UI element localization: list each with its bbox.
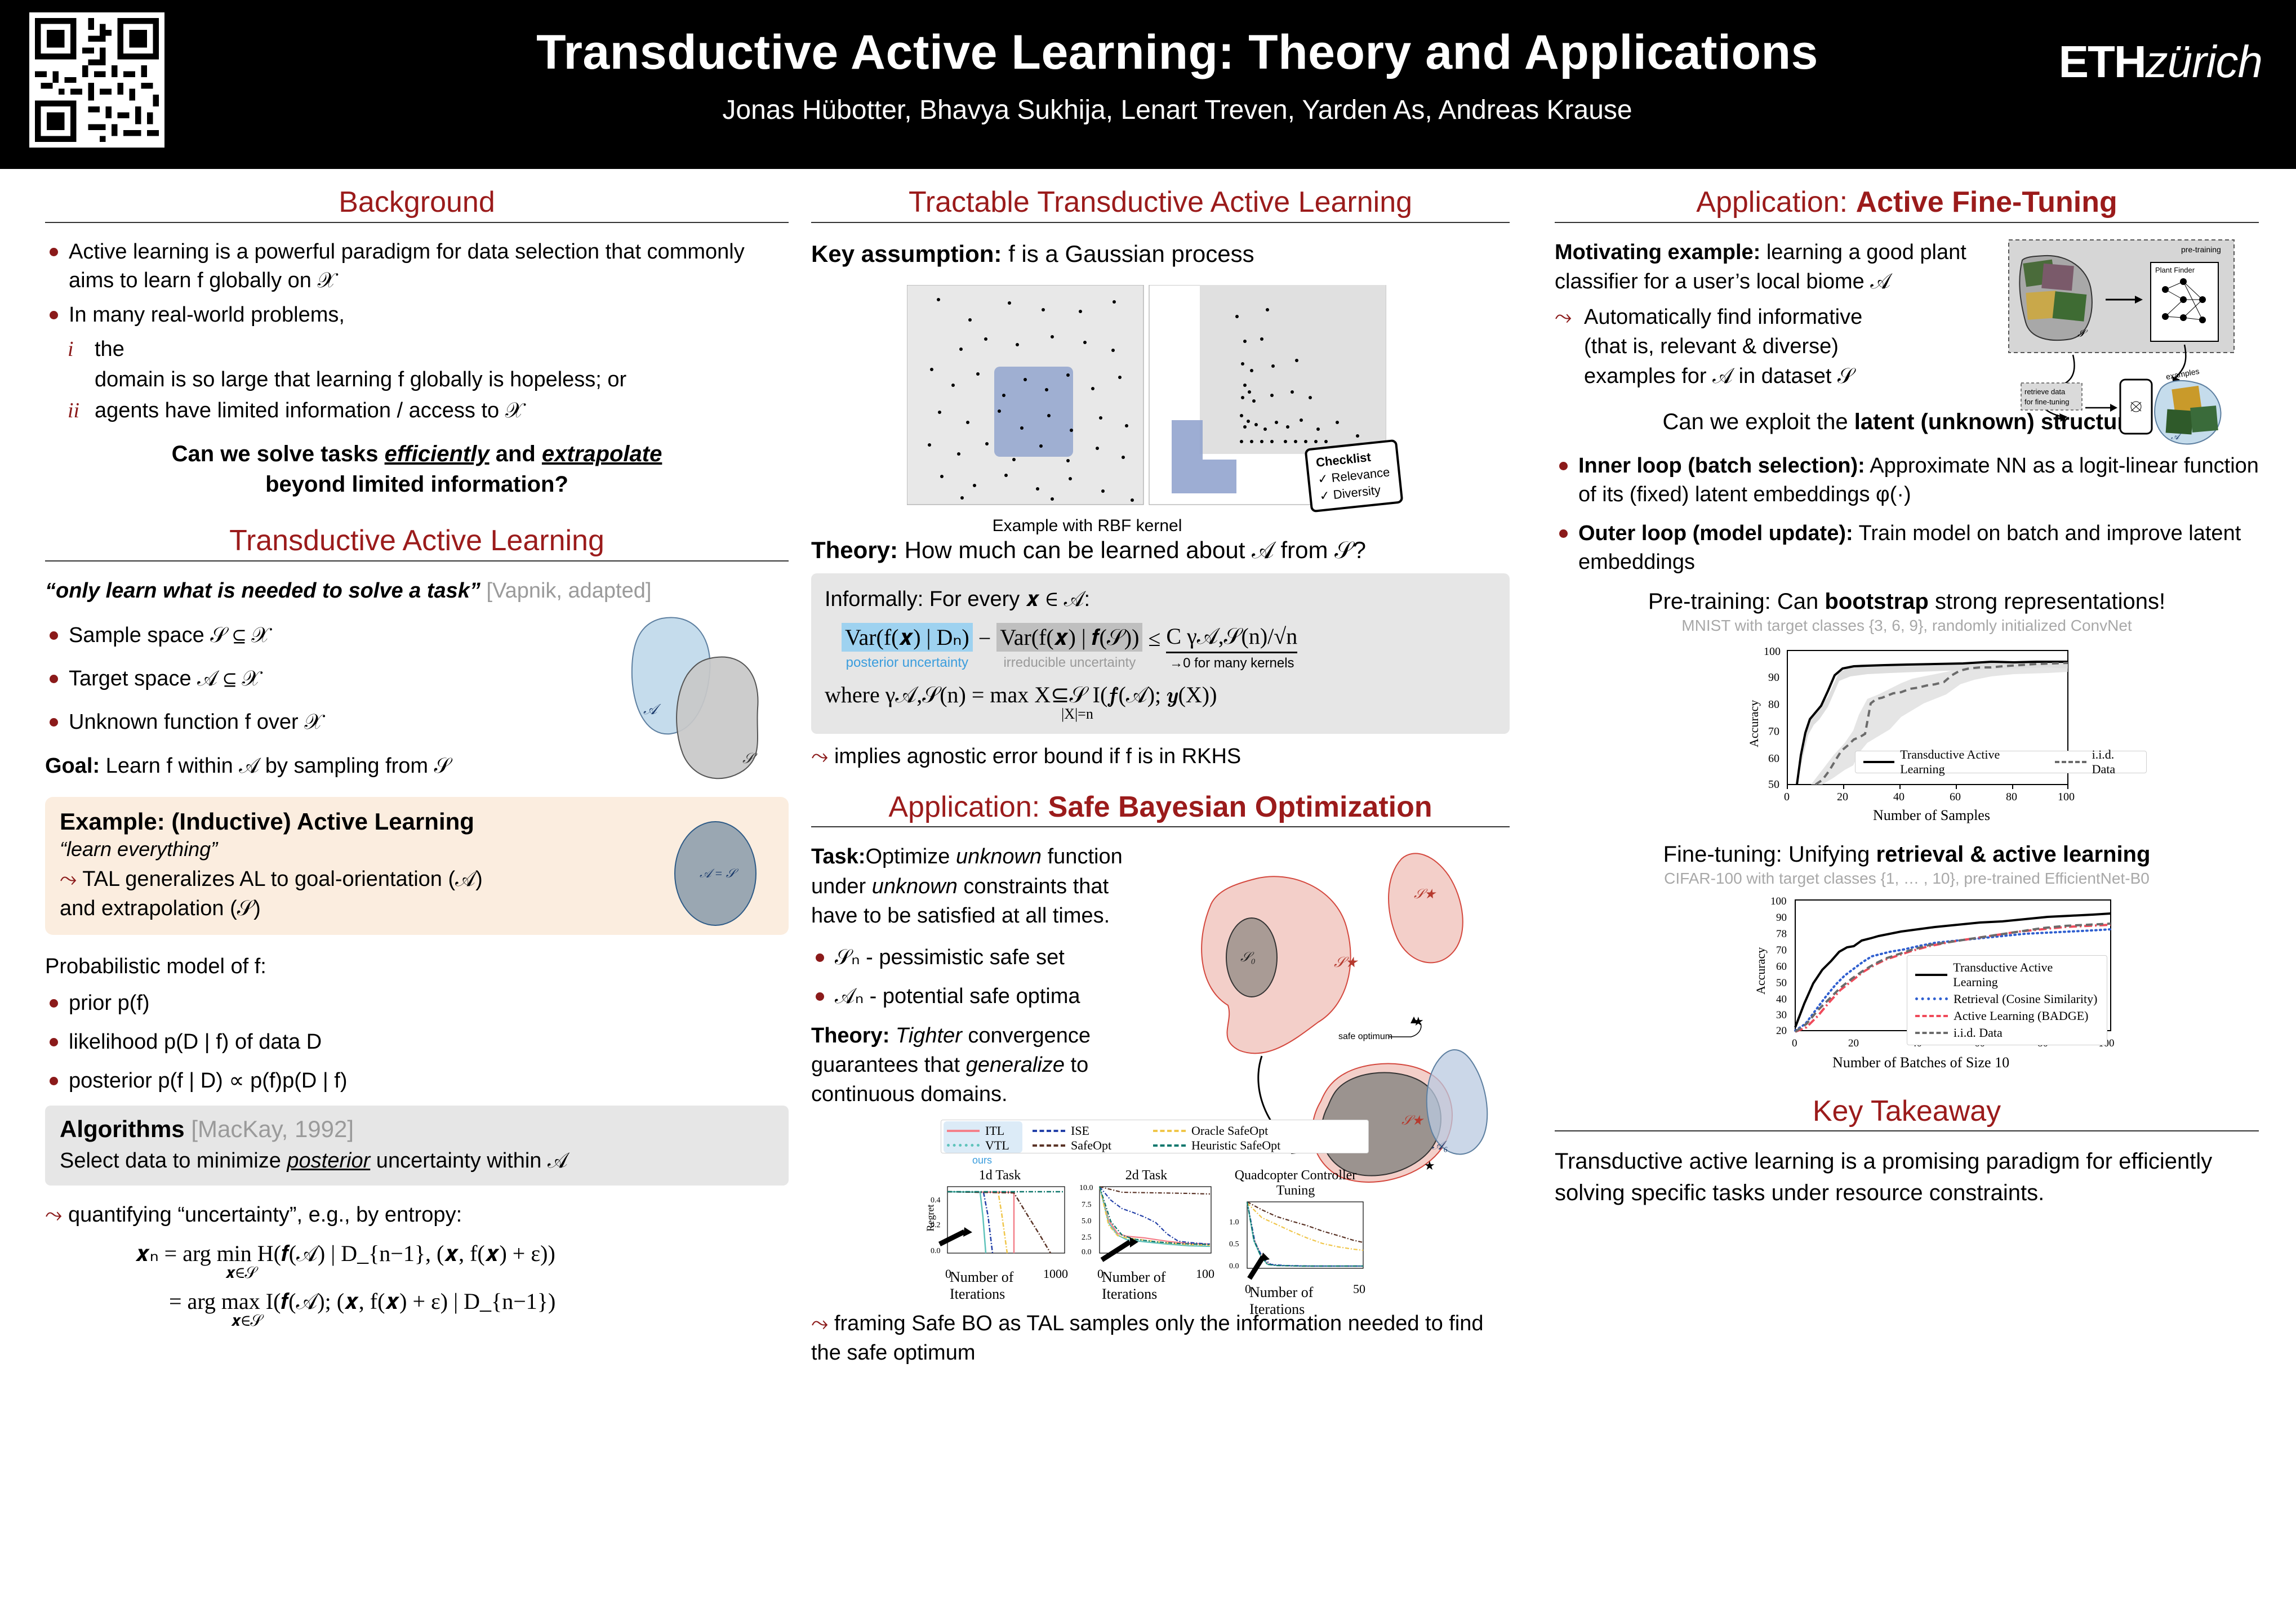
theory-text: How much can be learned about 𝒜 from 𝒮? xyxy=(898,537,1366,563)
theory-box: Informally: For every 𝒙 ∈ 𝒜: Var(f(𝒙) | … xyxy=(811,573,1510,734)
takeaway-text: Transductive active learning is a promis… xyxy=(1555,1146,2259,1208)
roman-numeral: i xyxy=(68,335,74,364)
svg-text:90: 90 xyxy=(1776,912,1787,924)
roman-text: the xyxy=(95,337,124,361)
checklist-card: Checklist ✓ Relevance ✓ Diversity xyxy=(1305,439,1404,513)
safebo-conclusion: ⤳ framing Safe BO as TAL samples only th… xyxy=(811,1309,1510,1368)
equation-argmax: = arg max I(𝒇(𝒜); (𝒙, f(𝒙) + ε) | D_{n−1… xyxy=(169,1288,789,1314)
question-part-a: Can we solve tasks xyxy=(172,442,385,466)
poster-title: Transductive Active Learning: Theory and… xyxy=(507,27,1848,78)
chart-safebo-2d: 2d Task 10.0 7.5 5.0 2.5 0.0 xyxy=(1076,1168,1217,1284)
chart-plot-area: 1009080 706050 02040 6080100 Accuracy xyxy=(1653,640,2160,809)
legend-label: i.i.d. Data xyxy=(1954,1026,2003,1040)
checklist-label: Diversity xyxy=(1333,483,1381,502)
legend-item-tal: Transductive Active Learning xyxy=(1863,747,2040,777)
alg-text-a: Select data to minimize xyxy=(60,1149,287,1173)
svg-text:60: 60 xyxy=(1950,791,1961,803)
safebo-task: Task:Optimize unknown function under unk… xyxy=(811,842,1160,930)
header-title-block: Transductive Active Learning: Theory and… xyxy=(507,27,1848,126)
legend-swatch xyxy=(1915,1015,1948,1017)
svg-text:80: 80 xyxy=(2006,791,2017,803)
ours-annotation: ours xyxy=(972,1155,992,1166)
tal-goal: Goal: Learn f within 𝒜 by sampling from … xyxy=(45,751,541,781)
background-bullet-list: Active learning is a powerful paradigm f… xyxy=(45,238,789,329)
safebo-charts-figure: ITL VTL ISE SafeOpt Oracle SafeOpt Heuri… xyxy=(811,1120,1510,1289)
legend-swatch xyxy=(1915,974,1947,976)
svg-text:60: 60 xyxy=(1776,961,1787,973)
svg-text:safe optimum: safe optimum xyxy=(1338,1032,1392,1041)
svg-text:30: 30 xyxy=(1776,1009,1787,1021)
legend-item-heuristic-safeopt: Heuristic SafeOpt xyxy=(1153,1138,1339,1153)
question-efficiently: efficiently xyxy=(385,442,490,466)
safebo-theory: Theory: Tighter convergence guarantees t… xyxy=(811,1021,1160,1109)
pt-a: Pre-training: Can xyxy=(1648,589,1825,614)
legend-item-ise: ISE xyxy=(1033,1124,1140,1138)
example-quote: “learn everything” xyxy=(60,837,544,861)
list-item: prior p(f) xyxy=(45,989,789,1018)
gamma-definition-subscript: |X|=n xyxy=(1061,706,1496,723)
svg-text:2.5: 2.5 xyxy=(1082,1233,1092,1242)
tal-quote-line: “only learn what is needed to solve a ta… xyxy=(45,576,789,605)
task-label: Task: xyxy=(811,845,865,868)
svg-text:Accuracy: Accuracy xyxy=(1754,947,1768,994)
roman-item-i-cont: domain is so large that learning f globa… xyxy=(51,366,789,394)
task-p0: Optimize xyxy=(865,845,955,868)
svg-text:100: 100 xyxy=(1770,895,1787,907)
eq-line2: = arg max I(𝒇(𝒜); (𝒙, f(𝒙) + ε) | D_{n−1… xyxy=(169,1289,555,1314)
legend-item-tal: Transductive Active Learning xyxy=(1915,960,2099,990)
gamma-definition: where γ𝒜,𝒮(n) = max X⊆𝒮 I(𝒇(𝒜); 𝒚(X)) xyxy=(825,681,1496,708)
list-item: 𝒜ₙ - potential safe optima xyxy=(811,982,1160,1011)
chart-cifar100: 1009078 706050 403020 02040 6080100 Accu… xyxy=(1653,893,2160,1073)
squiggle-arrow-icon: ⤳ xyxy=(1555,302,1572,332)
label-bound-note: →0 for many kernels xyxy=(1166,656,1297,671)
venn-diagram-a-s: 𝒜 𝒮 xyxy=(608,610,794,790)
squiggle-arrow-icon: ⤳ xyxy=(60,867,77,891)
column-right: Application: Active Fine-Tuning Motivati… xyxy=(1555,186,2259,1209)
entropy-lead-text: quantifying “uncertainty”, e.g., by entr… xyxy=(68,1203,462,1227)
list-item-outer-loop: Outer loop (model update): Train model o… xyxy=(1555,519,2259,577)
cifar-subtitle: CIFAR-100 with target classes {1, … , 10… xyxy=(1555,870,2259,888)
safebo-heading-bold: Safe Bayesian Optimization xyxy=(1048,791,1432,823)
svg-text:𝒜 = 𝒮: 𝒜 = 𝒮 xyxy=(700,866,739,880)
algorithms-box: Algorithms [MacKay, 1992] Select data to… xyxy=(45,1106,789,1186)
poster-root: Transductive Active Learning: Theory and… xyxy=(0,0,2296,1622)
list-item-inner-loop: Inner loop (batch selection): Approximat… xyxy=(1555,452,2259,509)
legend-swatch xyxy=(1153,1144,1186,1147)
ft-a: Fine-tuning: Unifying xyxy=(1663,842,1876,867)
legend-label: Transductive Active Learning xyxy=(1953,960,2099,990)
poster-authors: Jonas Hübotter, Bhavya Sukhija, Lenart T… xyxy=(507,95,1848,126)
divider xyxy=(1555,1130,2259,1131)
svg-text:100: 100 xyxy=(1764,645,1781,658)
legend-swatch xyxy=(947,1144,980,1147)
legend-swatch xyxy=(1863,761,1894,763)
st-p3: generalize xyxy=(966,1053,1065,1077)
svg-text:70: 70 xyxy=(1768,725,1779,738)
legend-label: Heuristic SafeOpt xyxy=(1191,1138,1280,1153)
algorithms-citation: [MacKay, 1992] xyxy=(191,1116,354,1142)
list-item: Unknown function f over 𝒳 xyxy=(45,708,518,737)
chart-safebo-quad: Quadcopter Controller Tuning 1.0 0.5 0.0 xyxy=(1222,1168,1369,1299)
legend-item-iid: i.i.d. Data xyxy=(1915,1026,2099,1040)
legend-label: ITL xyxy=(985,1124,1004,1138)
theory-label: Theory: xyxy=(811,537,898,563)
svg-text:𝒮★: 𝒮★ xyxy=(1334,954,1359,970)
svg-text:0.4: 0.4 xyxy=(931,1196,941,1205)
column-left: Background Active learning is a powerful… xyxy=(45,186,789,1330)
algorithms-description: Select data to minimize posterior uncert… xyxy=(60,1146,774,1175)
divider xyxy=(811,826,1510,827)
legend-item-iid: i.i.d. Data xyxy=(2055,747,2138,777)
mnist-subtitle: MNIST with target classes {3, 6, 9}, ran… xyxy=(1555,617,2259,635)
auto-find-block: ⤳ Automatically find informative (that i… xyxy=(1555,302,1972,391)
legend-swatch xyxy=(1033,1144,1065,1147)
list-item: In many real-world problems, xyxy=(45,301,789,329)
svg-text:50: 50 xyxy=(1768,778,1779,791)
svg-text:100: 100 xyxy=(2058,791,2075,803)
chart-mnist: 1009080 706050 02040 6080100 Accuracy xyxy=(1653,640,2160,826)
svg-text:40: 40 xyxy=(1776,993,1787,1005)
eq-leq-sign: ≤ xyxy=(1148,623,1160,652)
list-item: Sample space 𝒮 ⊆ 𝒳 xyxy=(45,621,518,650)
svg-text:0: 0 xyxy=(1784,791,1790,803)
question-line2: beyond limited information? xyxy=(265,472,568,497)
auto-line3: examples for 𝒜 in dataset 𝒮 xyxy=(1584,364,1854,388)
legend-swatch xyxy=(1915,997,1948,1000)
question-extrapolate: extrapolate xyxy=(542,442,662,466)
section-heading-safebo: Application: Safe Bayesian Optimization xyxy=(811,791,1510,825)
svg-text:𝒮★: 𝒮★ xyxy=(1414,887,1437,902)
legend-label: Transductive Active Learning xyxy=(1900,747,2040,777)
svg-text:0: 0 xyxy=(1792,1037,1797,1049)
section-heading-tractable: Tractable Transductive Active Learning xyxy=(811,186,1510,220)
svg-text:40: 40 xyxy=(1893,791,1905,803)
legend-swatch xyxy=(1153,1130,1186,1132)
legend-swatch xyxy=(947,1130,980,1132)
safebo-bullets: 𝒮ₙ - pessimistic safe set 𝒜ₙ - potential… xyxy=(811,943,1160,1011)
prob-model-bullets: prior p(f) likelihood p(D | f) of data D… xyxy=(45,989,789,1095)
loops-bullet-list: Inner loop (batch selection): Approximat… xyxy=(1555,452,2259,577)
svg-text:0.0: 0.0 xyxy=(1229,1262,1239,1271)
roman-item-ii: iiagents have limited information / acce… xyxy=(51,396,789,425)
roman-numeral: ii xyxy=(68,396,79,425)
example-line1: TAL generalizes AL to goal-orientation (… xyxy=(82,867,482,891)
chart-safebo-1d: 1d Task 0.4 0.2 0.0 0 10 xyxy=(929,1168,1070,1284)
roman-text: domain is so large that learning f globa… xyxy=(95,368,626,391)
mnist-chart-legend: Transductive Active Learning i.i.d. Data xyxy=(1855,751,2147,773)
eq-line2-subscript: 𝒙∈𝒮 xyxy=(231,1312,789,1330)
poster-header: Transductive Active Learning: Theory and… xyxy=(0,0,2296,169)
chart-title: Quadcopter Controller Tuning xyxy=(1222,1168,1369,1198)
list-item: 𝒮ₙ - pessimistic safe set xyxy=(811,943,1160,972)
svg-text:5.0: 5.0 xyxy=(1082,1217,1092,1226)
motivating-example: Motivating example: learning a good plan… xyxy=(1555,238,1972,297)
implies-line: ⤳ implies agnostic error bound if f is i… xyxy=(811,742,1510,771)
legend-label: VTL xyxy=(985,1138,1009,1153)
key-assumption-text: f is a Gaussian process xyxy=(1002,240,1254,267)
goal-text: Learn f within 𝒜 by sampling from 𝒮 xyxy=(100,754,451,778)
svg-text:60: 60 xyxy=(1768,752,1779,765)
x-axis-label: Number of Iterations xyxy=(1249,1284,1369,1318)
example-title: Example: (Inductive) Active Learning xyxy=(60,808,544,835)
section-heading-tal: Transductive Active Learning xyxy=(45,524,789,558)
squiggle-arrow-icon: ⤳ xyxy=(45,1203,62,1227)
svg-text:0.0: 0.0 xyxy=(931,1247,941,1255)
task-p1: unknown xyxy=(956,845,1042,868)
st-p1: Tighter xyxy=(896,1024,962,1048)
svg-text:20: 20 xyxy=(1776,1025,1787,1037)
tal-quote: “only learn what is needed to solve a ta… xyxy=(45,579,480,603)
chart-plot-area: 10.0 7.5 5.0 2.5 0.0 xyxy=(1076,1183,1217,1265)
theory-line: Theory: How much can be learned about 𝒜 … xyxy=(811,534,1510,567)
equation-argmin: 𝒙ₙ = arg min H(𝒇(𝒜) | D_{n−1}, (𝒙, f(𝒙) … xyxy=(135,1240,789,1267)
legend-item-oracle-safeopt: Oracle SafeOpt xyxy=(1153,1124,1339,1138)
task-p3: unknown xyxy=(872,875,958,898)
ft-heading-bold: Active Fine-Tuning xyxy=(1856,186,2117,219)
auto-line1: Automatically find informative xyxy=(1584,305,1862,329)
ft-heading-prefix: Application: xyxy=(1696,186,1856,219)
roman-item-i: ithe xyxy=(51,335,789,364)
mnist-x-axis-label: Number of Samples xyxy=(1873,807,1990,824)
key-assumption-label: Key assumption: xyxy=(811,240,1002,267)
y-axis-label: Regret xyxy=(924,1204,936,1231)
rbf-kernel-figure: Example with RBF kernel Checklist ✓ Rele… xyxy=(907,285,1414,522)
eq-irreducible-term: Var(f(𝒙) | 𝒇(𝒮)) xyxy=(996,623,1142,652)
label-irreducible-uncertainty: irreducible uncertainty xyxy=(996,655,1142,671)
finetuning-pipeline-diagram: pre-training 𝒮 Plant Finder xyxy=(2005,238,2264,463)
motivating-label: Motivating example: xyxy=(1555,240,1760,264)
q-a: Can we exploit the xyxy=(1663,409,1854,434)
pretraining-label: pre-training xyxy=(2181,245,2221,254)
ft-b: retrieval & active learning xyxy=(1876,842,2151,867)
svg-text:1.0: 1.0 xyxy=(1229,1218,1239,1227)
svg-text:Accuracy: Accuracy xyxy=(1747,699,1761,747)
outer-loop-label: Outer loop (model update): xyxy=(1578,522,1853,545)
goal-label: Goal: xyxy=(45,754,100,778)
pt-c: strong representations! xyxy=(1929,589,2165,614)
auto-line2: (that is, relevant & diverse) xyxy=(1584,335,1839,358)
svg-text:70: 70 xyxy=(1776,944,1787,956)
chart-plot-area: 0.4 0.2 0.0 xyxy=(929,1183,1070,1265)
plant-finder-label: Plant Finder xyxy=(2155,266,2195,274)
venn-diagram-a-equals-s: 𝒜 = 𝒮 xyxy=(659,817,772,930)
divider xyxy=(811,222,1510,223)
eth-zurich-logo: ETHzürich xyxy=(2059,39,2262,84)
section-heading-finetuning: Application: Active Fine-Tuning xyxy=(1555,186,2259,220)
qr-code-icon[interactable] xyxy=(29,12,164,148)
informally-line: Informally: For every 𝒙 ∈ 𝒜: xyxy=(825,585,1496,614)
question-part-c: and xyxy=(490,442,542,466)
svg-text:retrieve data: retrieve data xyxy=(2024,387,2066,396)
squiggle-arrow-icon: ⤳ xyxy=(811,1312,828,1335)
legend-swatch xyxy=(1915,1032,1948,1034)
check-icon: ✓ xyxy=(1319,488,1331,503)
cifar-x-axis-label: Number of Batches of Size 10 xyxy=(1832,1054,2009,1071)
safebo-chart-legend: ITL VTL ISE SafeOpt Oracle SafeOpt Heuri… xyxy=(941,1120,1369,1153)
roman-text: agents have limited information / access… xyxy=(95,399,523,422)
rbf-figure-caption: Example with RBF kernel xyxy=(907,516,1267,536)
legend-item-badge: Active Learning (BADGE) xyxy=(1915,1009,2099,1023)
entropy-lead: ⤳ quantifying “uncertainty”, e.g., by en… xyxy=(45,1200,789,1229)
legend-swatch xyxy=(1033,1130,1065,1132)
inner-loop-label: Inner loop (batch selection): xyxy=(1578,454,1865,478)
legend-item-itl: ITL xyxy=(947,1124,1019,1138)
squiggle-arrow-icon: ⤳ xyxy=(811,745,828,768)
list-item: Active learning is a powerful paradigm f… xyxy=(45,238,789,295)
svg-text:20: 20 xyxy=(1848,1037,1859,1049)
example-inductive-al-box: Example: (Inductive) Active Learning “le… xyxy=(45,797,789,935)
alg-text-c: uncertainty within 𝒜 xyxy=(370,1149,568,1173)
svg-text:10.0: 10.0 xyxy=(1079,1184,1093,1192)
eq-line1-subscript: 𝒙∈𝒮 xyxy=(225,1264,789,1282)
background-question: Can we solve tasks efficiently and extra… xyxy=(45,439,789,500)
svg-text:0.5: 0.5 xyxy=(1229,1240,1239,1249)
eq-bound-term: C γ𝒜,𝒮(n)/√n xyxy=(1166,623,1297,653)
legend-label: SafeOpt xyxy=(1071,1138,1111,1153)
svg-text:7.5: 7.5 xyxy=(1082,1201,1092,1209)
logo-zurich-text: zürich xyxy=(2146,37,2262,87)
pretraining-caption: Pre-training: Can bootstrap strong repre… xyxy=(1555,589,2259,614)
chart-title: 1d Task xyxy=(929,1168,1070,1183)
legend-label: i.i.d. Data xyxy=(2092,747,2138,777)
legend-item-safeopt: SafeOpt xyxy=(1033,1138,1140,1153)
svg-text:50: 50 xyxy=(1776,977,1787,989)
pt-b: bootstrap xyxy=(1825,589,1928,614)
algorithms-title: Algorithms xyxy=(60,1116,185,1142)
key-assumption-line: Key assumption: f is a Gaussian process xyxy=(811,238,1510,270)
list-item: Target space 𝒜 ⊆ 𝒳 xyxy=(45,665,518,693)
legend-label: Oracle SafeOpt xyxy=(1191,1124,1268,1138)
legend-item-vtl: VTL xyxy=(947,1138,1019,1153)
finetuning-caption: Fine-tuning: Unifying retrieval & active… xyxy=(1555,842,2259,867)
svg-text:★: ★ xyxy=(1413,1014,1424,1028)
tal-citation: [Vapnik, adapted] xyxy=(486,579,651,603)
safebo-theory-label: Theory: xyxy=(811,1024,889,1048)
legend-swatch xyxy=(2055,761,2086,763)
prob-model-title: Probabilistic model of f: xyxy=(45,952,789,981)
legend-label: Retrieval (Cosine Similarity) xyxy=(1954,992,2097,1006)
svg-text:for fine-tuning: for fine-tuning xyxy=(2024,398,2070,406)
st-p0 xyxy=(889,1024,896,1048)
svg-text:𝒮₀: 𝒮₀ xyxy=(1240,950,1256,965)
eq-minus-sign: − xyxy=(978,623,991,652)
x-axis-label: Number of Iterations xyxy=(1102,1269,1217,1303)
divider xyxy=(1555,222,2259,223)
check-icon: ✓ xyxy=(1317,471,1329,487)
eq-posterior-term: Var(f(𝒙) | Dₙ) xyxy=(842,623,973,652)
safebo-heading-prefix: Application: xyxy=(888,791,1048,823)
safebo-conclusion-text: framing Safe BO as TAL samples only the … xyxy=(811,1312,1484,1365)
section-heading-takeaway: Key Takeaway xyxy=(1555,1095,2259,1129)
alg-text-posterior: posterior xyxy=(287,1149,370,1173)
svg-text:90: 90 xyxy=(1768,671,1779,684)
legend-label: Active Learning (BADGE) xyxy=(1954,1009,2088,1023)
section-heading-background: Background xyxy=(45,186,789,220)
example-line2: and extrapolation (𝒮) xyxy=(60,894,544,923)
logo-eth-text: ETH xyxy=(2059,37,2146,87)
list-item: likelihood p(D | f) of data D xyxy=(45,1028,789,1057)
tal-bullet-list: Sample space 𝒮 ⊆ 𝒳 Target space 𝒜 ⊆ 𝒳 Un… xyxy=(45,621,518,737)
x-axis-label: Number of Iterations xyxy=(950,1269,1070,1303)
cifar-chart-legend: Transductive Active Learning Retrieval (… xyxy=(1907,955,2107,1045)
svg-text:20: 20 xyxy=(1837,791,1848,803)
svg-text:0.0: 0.0 xyxy=(1082,1248,1092,1256)
divider xyxy=(45,560,789,562)
legend-item-retrieval: Retrieval (Cosine Similarity) xyxy=(1915,992,2099,1006)
legend-label: ISE xyxy=(1071,1124,1089,1138)
column-middle: Tractable Transductive Active Learning K… xyxy=(811,186,1510,1368)
chart-plot-area: 1.0 0.5 0.0 xyxy=(1222,1198,1369,1280)
chart-title: 2d Task xyxy=(1076,1168,1217,1183)
label-posterior-uncertainty: posterior uncertainty xyxy=(842,655,973,671)
eq-line1: 𝒙ₙ = arg min H(𝒇(𝒜) | D_{n−1}, (𝒙, f(𝒙) … xyxy=(135,1241,555,1266)
svg-text:80: 80 xyxy=(1768,698,1779,711)
implies-text: implies agnostic error bound if f is in … xyxy=(834,745,1241,768)
svg-text:78: 78 xyxy=(1776,928,1787,940)
divider xyxy=(45,222,789,223)
list-item: posterior p(f | D) ∝ p(f)p(D | f) xyxy=(45,1067,789,1095)
